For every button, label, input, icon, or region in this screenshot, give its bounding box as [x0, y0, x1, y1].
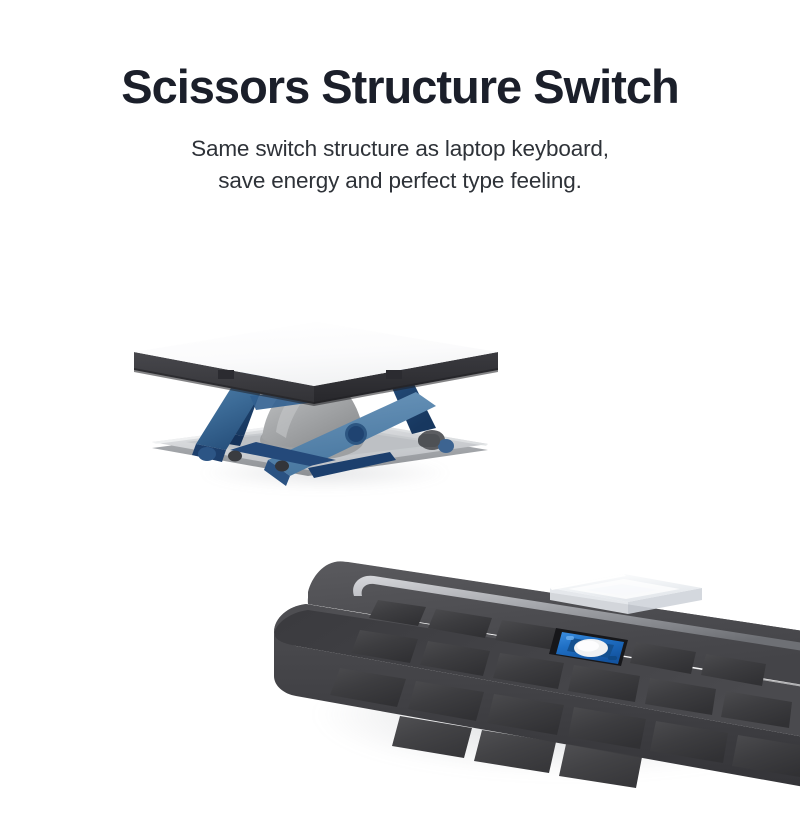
subtitle-line-2: save energy and perfect type feeling. [0, 165, 800, 197]
switch-keycap [134, 322, 498, 406]
keyboard-illustration [250, 500, 800, 810]
marketing-copy-block: Scissors Structure Switch Same switch st… [0, 0, 800, 196]
scissor-switch-illustration [100, 300, 540, 520]
subtitle-line-1: Same switch structure as laptop keyboard… [0, 114, 800, 165]
page-title: Scissors Structure Switch [0, 0, 800, 114]
